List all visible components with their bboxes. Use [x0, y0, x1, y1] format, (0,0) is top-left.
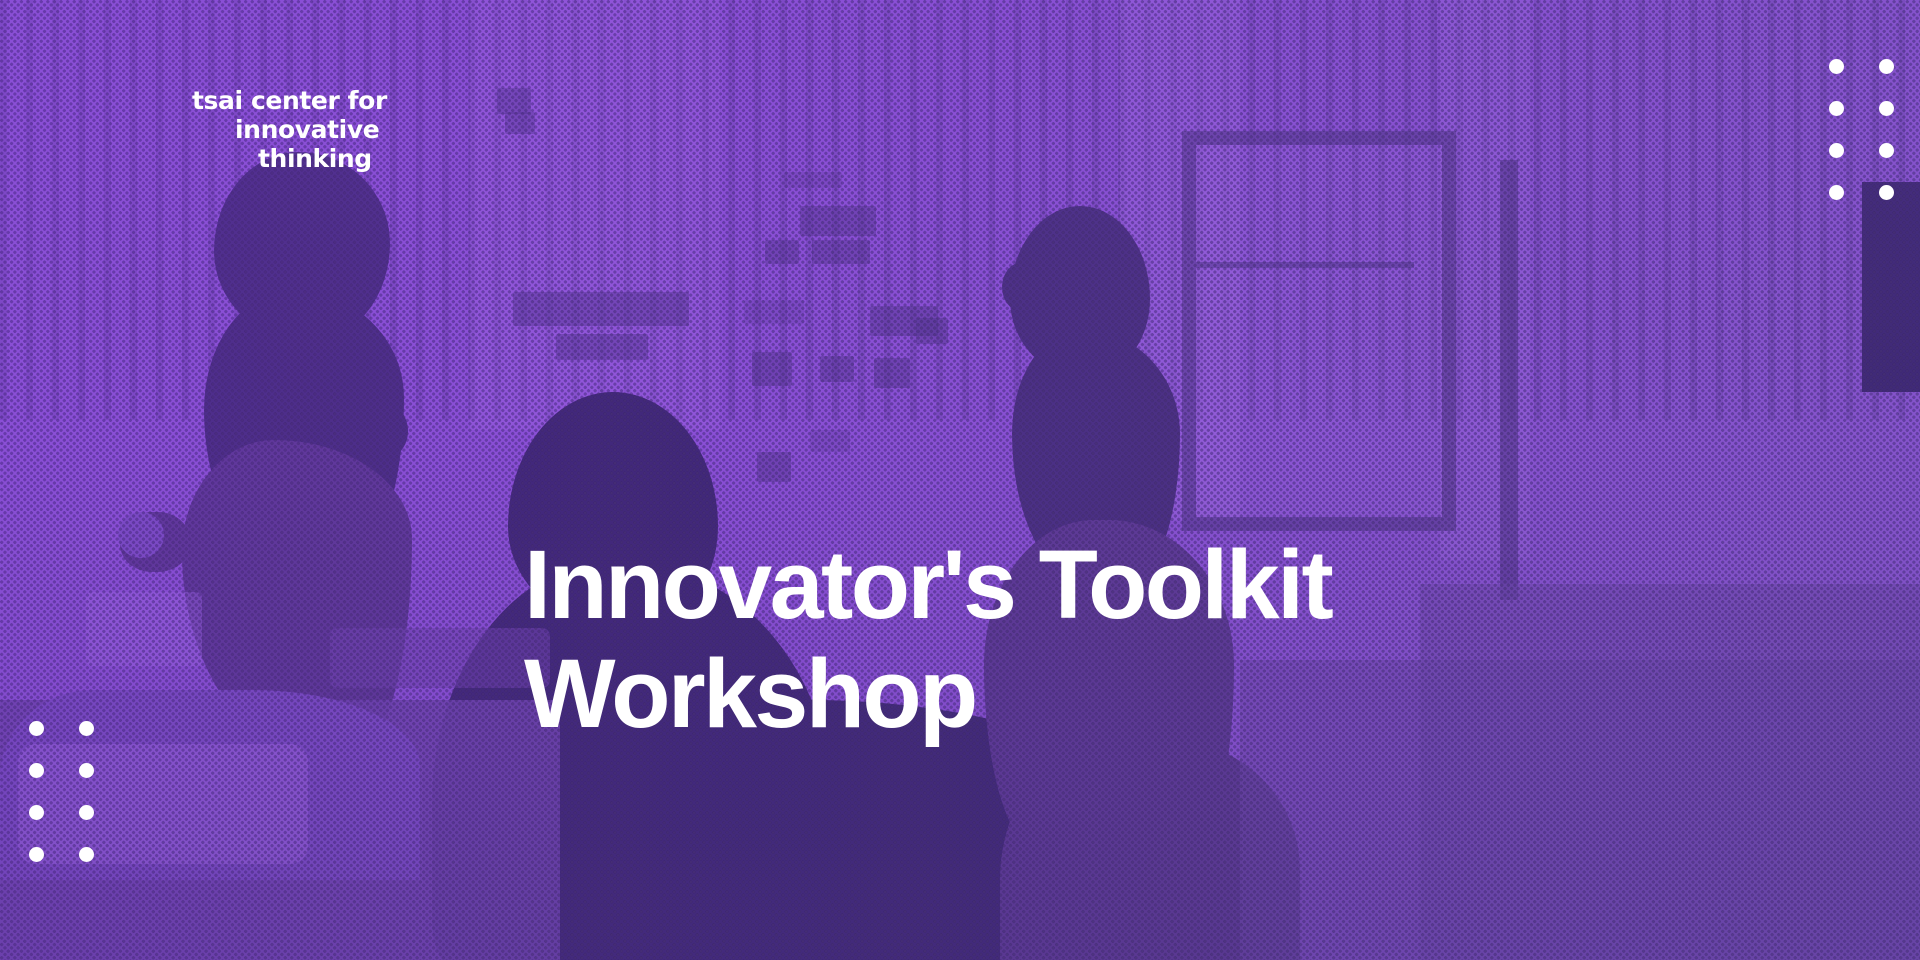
decorative-dot [79, 721, 94, 736]
logo-line-1: tsai center for [192, 86, 387, 115]
decorative-dot [1829, 59, 1844, 74]
decorative-dot [1829, 101, 1844, 116]
logo-line-3: thinking [192, 144, 387, 173]
decorative-dot [29, 721, 44, 736]
decorative-dot [79, 805, 94, 820]
decorative-dot-grid-bottom-left [29, 721, 129, 889]
event-banner: tsai center for innovative thinking Inno… [0, 0, 1920, 960]
decorative-dot [1879, 185, 1894, 200]
decorative-dot [1829, 185, 1844, 200]
decorative-dot [1829, 143, 1844, 158]
event-title-line-1: Innovator's Toolkit [524, 531, 1524, 640]
logo-line-2: innovative [192, 115, 387, 144]
decorative-dot-grid-top-right [1829, 59, 1920, 227]
tsai-center-logo[interactable]: tsai center for innovative thinking [192, 86, 387, 173]
event-title-line-2: Workshop [524, 640, 1524, 749]
decorative-dot [1879, 143, 1894, 158]
decorative-dot [29, 847, 44, 862]
decorative-dot [79, 763, 94, 778]
event-title: Innovator's Toolkit Workshop [524, 531, 1524, 748]
decorative-dot [1879, 101, 1894, 116]
decorative-dot [79, 847, 94, 862]
decorative-dot [29, 763, 44, 778]
decorative-dot [1879, 59, 1894, 74]
decorative-dot [29, 805, 44, 820]
